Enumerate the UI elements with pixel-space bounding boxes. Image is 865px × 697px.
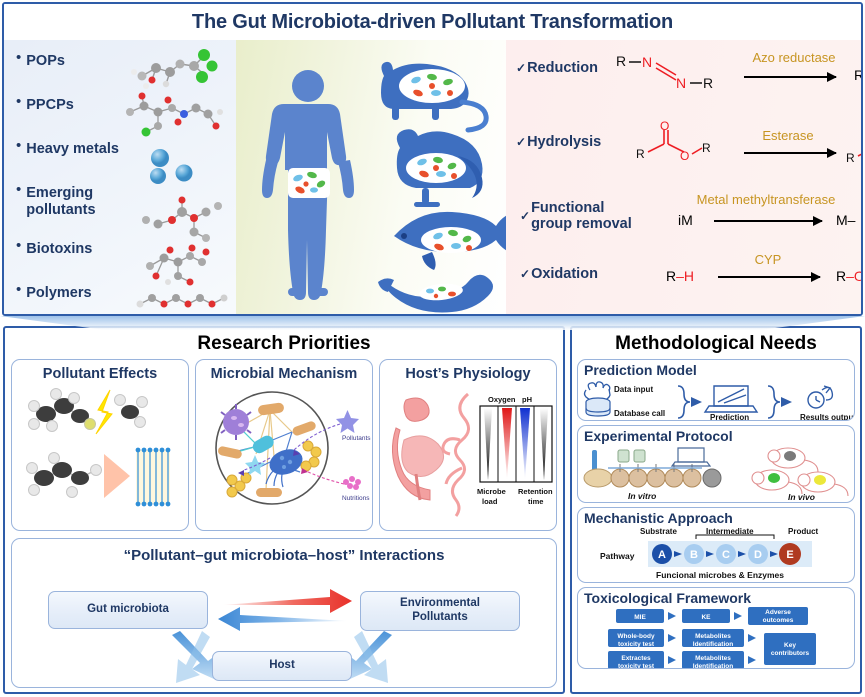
reaction-row-reduction: ✓ Reduction <box>516 60 598 76</box>
card-hosts-physiology: Host’s Physiology <box>379 359 557 531</box>
node-gut-microbiota[interactable]: Gut microbiota <box>48 591 208 629</box>
check-icon: ✓ <box>520 267 530 281</box>
reaction-arrow-icon <box>744 76 836 78</box>
research-priorities-section: Research Priorities Pollutant Effects <box>3 326 565 694</box>
whole-body-label-1: Whole-body <box>617 633 655 640</box>
fish-icon <box>394 212 506 270</box>
worm-icon <box>378 275 493 313</box>
molecule-emerging-icon <box>136 192 232 244</box>
enzyme-label: Metal methyltransferase <box>656 192 863 207</box>
enzyme-label: Esterase <box>738 128 838 143</box>
svg-text:R: R <box>636 147 645 161</box>
svg-text:O: O <box>680 149 689 163</box>
research-cards: Pollutant Effects <box>5 359 563 531</box>
card-interactions: “Pollutant–gut microbiota–host” Interact… <box>11 538 557 688</box>
ester-structure: R O O R <box>634 118 724 166</box>
database-call-icon <box>586 398 610 416</box>
reaction-name: Hydrolysis <box>527 134 601 150</box>
svg-text:O: O <box>660 119 669 133</box>
nutritions-label: Nutritions <box>342 495 370 502</box>
node-label: Environmental Pollutants <box>400 597 480 625</box>
adverse-label-2: outcomes <box>763 617 794 624</box>
carboxylic-acid-structure: R O OH <box>846 122 863 170</box>
pollutant-label: POPs <box>26 50 65 70</box>
molecule-membrane-icon <box>27 448 171 507</box>
retention-time-label: Retention <box>518 487 553 496</box>
metabolites-label-2: Identification <box>693 641 733 648</box>
azo-substrate-structure: R N N R <box>614 48 724 98</box>
product-header: Product <box>788 527 819 536</box>
bullet-icon: • <box>16 138 21 154</box>
pollutants-label: Pollutants <box>342 435 371 442</box>
svg-text:R: R <box>702 141 711 155</box>
card-title: Pollutant Effects <box>12 360 188 384</box>
metabolites2-label-1: Metabolites <box>695 655 731 662</box>
reaction-row-functional-group-removal: ✓ Functional group removal <box>520 200 632 232</box>
oxidation-substrate-structure: R–H <box>666 268 694 284</box>
key-label-2: contributors <box>771 650 810 657</box>
svg-text:R: R <box>616 53 626 69</box>
ph-label: pH <box>522 395 532 404</box>
microbe-load-label: Microbe <box>477 487 506 496</box>
prediction-label: Prediction <box>710 413 749 421</box>
microbe-load-label-2: load <box>482 497 498 506</box>
pathway-node-e: E <box>786 549 793 561</box>
mouse-icon <box>381 62 486 130</box>
oxidation-product-structure: R–OH <box>836 268 863 284</box>
pollutant-label: Biotoxins <box>26 238 92 258</box>
molecule-pop-icon <box>122 46 230 94</box>
adverse-label-1: Adverse <box>765 609 791 616</box>
bullet-icon: • <box>16 182 21 198</box>
check-icon: ✓ <box>516 135 526 149</box>
reaction-row-hydrolysis: ✓ Hydrolysis <box>516 134 601 150</box>
section-title: Methodological Needs <box>572 328 860 359</box>
pollutant-label: Heavy metals <box>26 138 119 158</box>
prediction-icon <box>705 386 757 412</box>
reaction-arrow-icon <box>744 152 836 154</box>
funnel-connector <box>0 316 865 330</box>
key-label-1: Key <box>784 642 796 649</box>
mouse-icon <box>752 470 802 494</box>
results-output-icon <box>808 386 832 408</box>
mouse-icon <box>768 448 818 472</box>
bullet-icon: • <box>16 238 21 254</box>
methodological-needs-section: Methodological Needs Prediction Model Da… <box>570 326 862 694</box>
pathway-label: Pathway <box>600 551 635 561</box>
molecule-polymer-icon <box>132 288 236 314</box>
card-title: Host’s Physiology <box>380 360 556 384</box>
pollutant-label: PPCPs <box>26 94 74 114</box>
experimental-illustration: In vitro In vivo <box>578 442 855 503</box>
node-label: Gut microbiota <box>87 603 169 617</box>
metabolites-label-1: Metabolites <box>695 633 731 640</box>
pathway-diagram: Substrate Intermediate Product Pathway A… <box>578 525 855 583</box>
node-host[interactable]: Host <box>212 651 352 681</box>
check-icon: ✓ <box>516 61 526 75</box>
card-experimental-protocol: Experimental Protocol <box>577 425 855 503</box>
node-environmental-pollutants[interactable]: Environmental Pollutants <box>360 591 520 631</box>
card-pollutant-effects: Pollutant Effects <box>11 359 189 531</box>
prediction-flow: Data input Database call Prediction <box>578 378 855 421</box>
retention-time-label-2: time <box>528 497 543 506</box>
reaction-arrow-icon <box>714 220 822 222</box>
card-toxicological-framework: Toxicological Framework MIE KE Adverse o… <box>577 587 855 669</box>
pathway-node-c: C <box>722 549 730 561</box>
molecule-ppcp-icon <box>116 88 234 140</box>
reaction-panel: ✓ Reduction R N N R Azo reductase R–NH2 … <box>506 40 861 316</box>
pollutant-label: Emerging pollutants <box>26 182 95 218</box>
card-title: Prediction Model <box>578 360 854 378</box>
mie-label: MIE <box>634 614 646 621</box>
pathway-node-d: D <box>754 549 762 561</box>
card-microbial-mechanism: Microbial Mechanism <box>195 359 373 531</box>
toxicological-flow: MIE KE Adverse outcomes Whole-body toxic… <box>578 607 855 669</box>
organism-illustrations <box>236 40 506 316</box>
extractes-label-1: Extractes <box>621 655 651 662</box>
data-input-label: Data input <box>614 385 653 394</box>
azo-product-structure: R–NH2 <box>854 67 863 87</box>
reaction-row-oxidation: ✓ Oxidation <box>520 266 598 282</box>
enzyme-label: CYP <box>728 252 808 267</box>
reaction-name: Reduction <box>527 60 598 76</box>
extractes-label-2: toxicity test <box>618 663 655 669</box>
pollutant-panel: • POPs • PPCPs • Heavy metals • Emerging… <box>4 40 236 316</box>
card-prediction-model: Prediction Model Data input Database cal… <box>577 359 855 421</box>
enzyme-label: Azo reductase <box>728 50 860 65</box>
product-label: M– <box>836 212 855 228</box>
page-title: The Gut Microbiota-driven Pollutant Tran… <box>4 4 861 40</box>
check-icon: ✓ <box>520 209 530 223</box>
card-title: Microbial Mechanism <box>196 360 372 384</box>
metal-spheres-icon <box>146 146 208 186</box>
card-title: Toxicological Framework <box>578 588 854 606</box>
molecule-cleavage-icon <box>29 389 148 435</box>
reaction-name: Functional group removal <box>531 200 632 232</box>
metabolites2-label-2: Identification <box>693 663 733 669</box>
in-vivo-label: In vivo <box>788 492 815 502</box>
top-body: • POPs • PPCPs • Heavy metals • Emerging… <box>4 40 861 316</box>
reaction-name: Oxidation <box>531 266 598 282</box>
molecule-biotoxin-icon <box>134 242 230 290</box>
substrate-label: iM <box>678 212 693 228</box>
pathway-footer: Funcional microbes & Enzymes <box>656 570 784 580</box>
top-section: The Gut Microbiota-driven Pollutant Tran… <box>2 2 863 316</box>
oxygen-label: Oxygen <box>488 395 516 404</box>
organism-panel <box>236 40 506 316</box>
bullet-icon: • <box>16 50 21 66</box>
box-key-contributors <box>764 633 816 665</box>
in-vitro-label: In vitro <box>628 491 656 501</box>
svg-text:R: R <box>703 75 713 91</box>
results-output-label: Results output <box>800 413 855 421</box>
database-call-label: Database call <box>614 409 665 418</box>
card-mechanistic-approach: Mechanistic Approach Substrate Intermedi… <box>577 507 855 583</box>
node-label: Host <box>269 659 295 673</box>
pathway-node-a: A <box>658 549 666 561</box>
bullet-icon: • <box>16 94 21 110</box>
section-title: Research Priorities <box>5 328 563 359</box>
pollutant-effects-illustration <box>12 384 186 524</box>
microbial-network-illustration: Pollutants Nutritions <box>196 384 373 526</box>
reaction-arrow-icon <box>718 276 820 278</box>
svg-text:N: N <box>642 54 652 70</box>
pollutant-label: Polymers <box>26 282 91 302</box>
ke-label: KE <box>701 614 711 621</box>
svg-text:R: R <box>846 151 855 165</box>
chicken-icon <box>397 129 483 207</box>
whole-body-label-2: toxicity test <box>618 641 655 648</box>
substrate-header: Substrate <box>640 527 677 536</box>
pathway-node-b: B <box>690 549 698 561</box>
svg-text:N: N <box>676 75 686 91</box>
card-title: Mechanistic Approach <box>578 508 854 526</box>
host-physiology-illustration: Oxygen pH Microbe load Retention time <box>380 384 557 526</box>
bullet-icon: • <box>16 282 21 298</box>
